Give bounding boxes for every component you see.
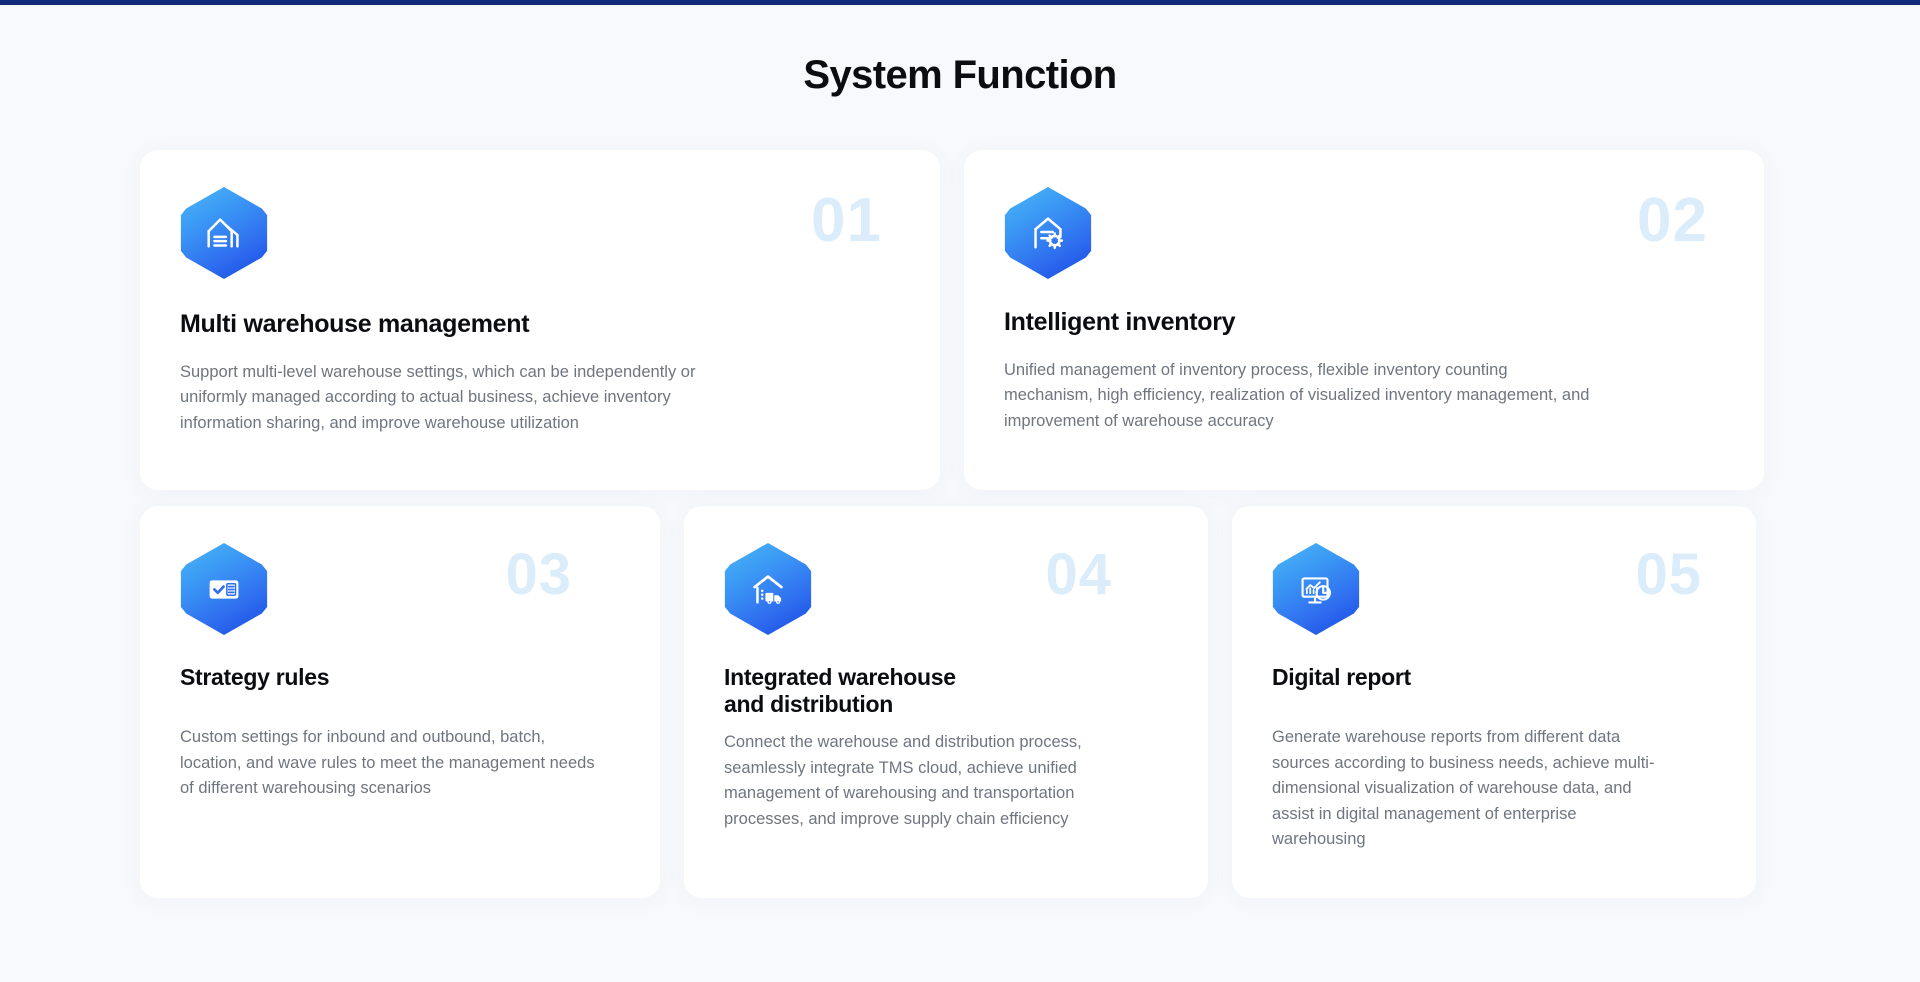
card-description: Connect the warehouse and distribution p…	[724, 730, 1144, 832]
card-title: Intelligent inventory	[1004, 308, 1724, 338]
card-number: 01	[811, 190, 882, 252]
card-title: Integrated warehouse and distribution	[724, 664, 1168, 718]
card-title-line-1: Integrated warehouse	[724, 664, 1168, 691]
card-icon-badge	[724, 542, 818, 636]
feature-card-strategy-rules[interactable]: 03 Strategy rules Custom settings for in…	[140, 506, 660, 898]
card-icon-badge	[1272, 542, 1366, 636]
feature-card-intelligent-inventory[interactable]: 02 Intelligent inventory Unified managem…	[964, 150, 1764, 490]
card-number: 02	[1637, 190, 1708, 252]
feature-card-digital-report[interactable]: 05 Digital report Generate warehouse rep…	[1232, 506, 1756, 898]
card-number: 05	[1635, 546, 1702, 604]
card-title-line-2: and distribution	[724, 691, 1168, 718]
warehouse-gear-icon	[1025, 210, 1071, 256]
warehouse-icon	[201, 210, 247, 256]
card-content: 02 Intelligent inventory Unified managem…	[964, 150, 1764, 490]
card-title: Digital report	[1272, 664, 1716, 691]
card-number: 04	[1045, 546, 1112, 604]
card-description: Unified management of inventory process,…	[1004, 358, 1594, 435]
card-content: 01 Multi warehouse management Support mu…	[140, 150, 940, 490]
card-number: 03	[505, 546, 572, 604]
card-title: Strategy rules	[180, 664, 620, 691]
feature-card-integrated-warehouse-and-distribution[interactable]: 04 Integrated warehouse and distribution…	[684, 506, 1208, 898]
card-description: Generate warehouse reports from differen…	[1272, 725, 1672, 853]
card-description: Support multi-level warehouse settings, …	[180, 360, 740, 437]
card-icon-badge	[180, 186, 274, 280]
card-icon-badge	[180, 542, 274, 636]
card-row-1: 01 Multi warehouse management Support mu…	[140, 150, 1780, 490]
card-row-2: 03 Strategy rules Custom settings for in…	[140, 506, 1780, 898]
card-content: 04 Integrated warehouse and distribution…	[684, 506, 1208, 898]
feature-card-grid: 01 Multi warehouse management Support mu…	[140, 98, 1780, 898]
report-monitor-icon	[1293, 566, 1339, 612]
card-content: 05 Digital report Generate warehouse rep…	[1232, 506, 1756, 898]
card-description: Custom settings for inbound and outbound…	[180, 725, 610, 802]
checklist-icon	[201, 566, 247, 612]
feature-card-multi-warehouse-management[interactable]: 01 Multi warehouse management Support mu…	[140, 150, 940, 490]
system-function-page: System Function	[0, 5, 1920, 982]
card-icon-badge	[1004, 186, 1098, 280]
page-title: System Function	[0, 53, 1920, 98]
card-title: Multi warehouse management	[180, 310, 900, 340]
warehouse-truck-icon	[745, 566, 791, 612]
card-content: 03 Strategy rules Custom settings for in…	[140, 506, 660, 898]
